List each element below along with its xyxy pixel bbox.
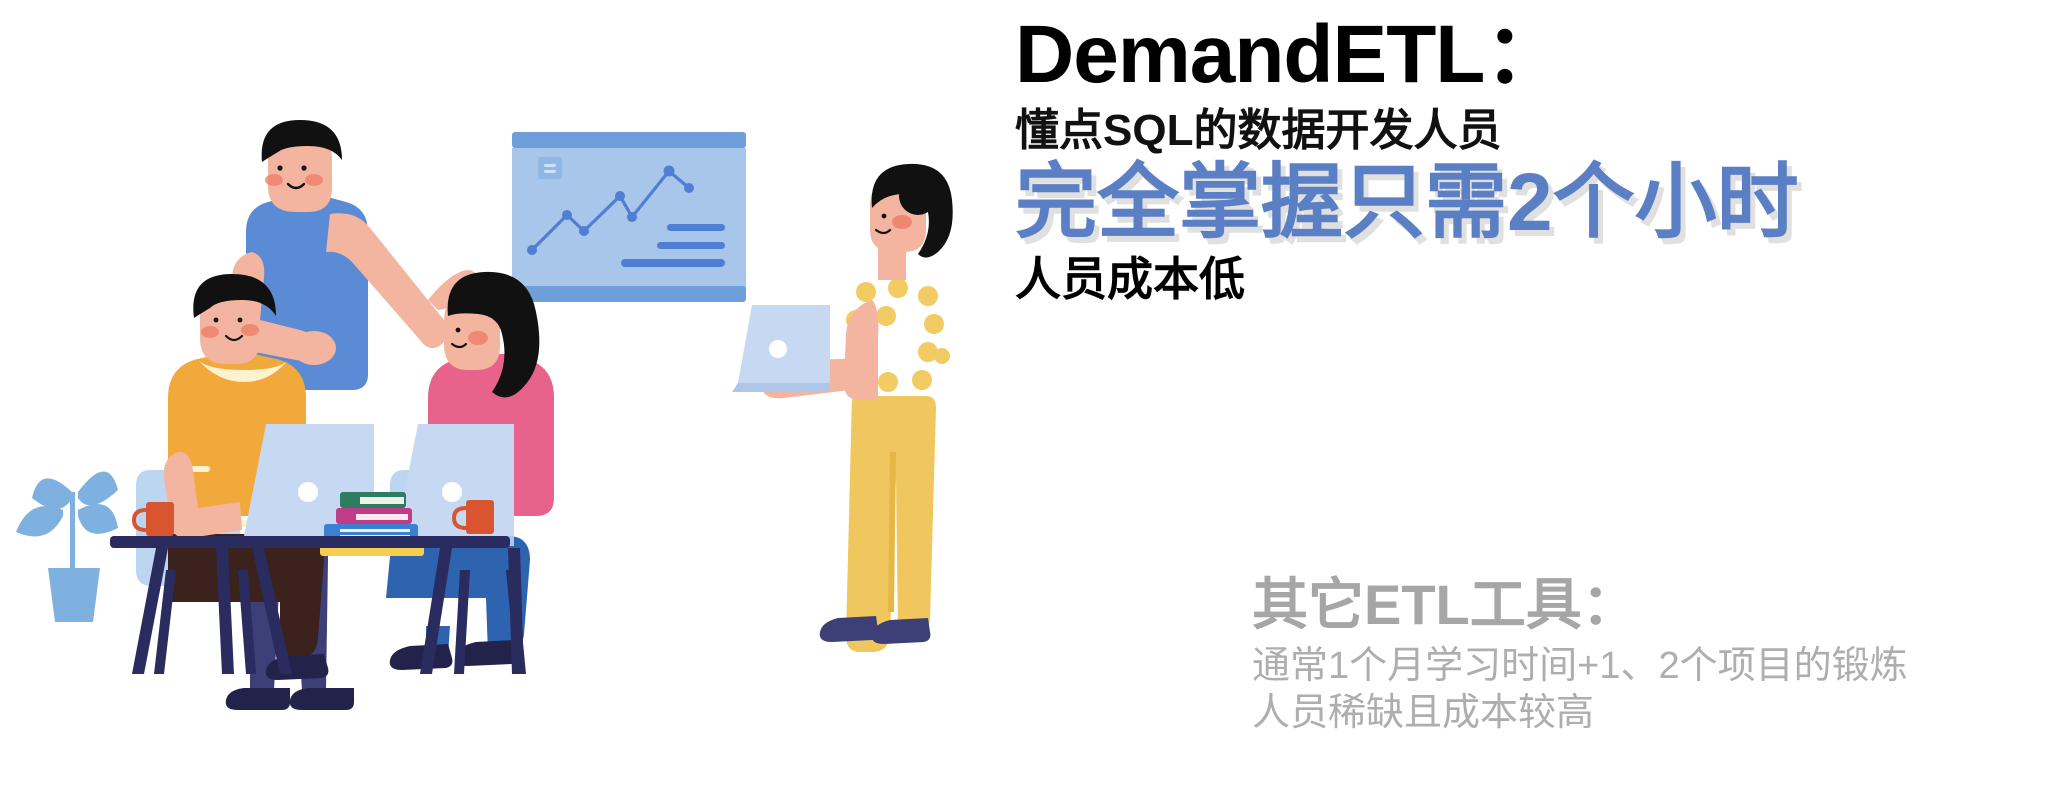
board-doc-icon (538, 157, 562, 179)
woman-blush (468, 331, 488, 345)
promo-banner: DemandETL： 懂点SQL的数据开发人员 完全掌握只需2个小时 人员成本低… (0, 0, 2066, 794)
product-title: DemandETL： (1015, 14, 2035, 96)
boy-blush-right (241, 324, 259, 336)
woman-shoe-left (390, 644, 453, 670)
plant-pot (48, 568, 100, 622)
table-top (110, 536, 510, 548)
highlight-headline: 完全掌握只需2个小时 (1015, 159, 2035, 248)
boy-blush-left (201, 326, 219, 338)
product-subtitle: 懂点SQL的数据开发人员 (1015, 106, 2035, 155)
boy-eye-right (238, 318, 243, 323)
board-bottom-bar (512, 286, 746, 302)
person-standing-woman (732, 164, 954, 652)
laptop-left-logo (298, 482, 318, 502)
team-working-illustration (0, 0, 1000, 794)
man-eye-right (301, 165, 306, 170)
laptop-right-logo (442, 482, 462, 502)
standing-woman-laptop-logo (769, 340, 787, 358)
standing-woman-shoe-left (820, 616, 879, 642)
potted-plant (16, 471, 118, 622)
boy-eye-left (214, 318, 219, 323)
comparison-line-1: 通常1个月学习时间+1、2个项目的锻炼 (1252, 643, 2042, 690)
man-shoe-left (226, 688, 290, 710)
comparison-line-2: 人员稀缺且成本较高 (1252, 690, 2042, 737)
man-fist (292, 331, 336, 365)
woman-eye (456, 328, 461, 333)
man-blush-right (305, 174, 323, 186)
man-blush-left (265, 174, 283, 186)
board-top-bar (512, 132, 746, 148)
comparison-title: 其它ETL工具： (1252, 576, 2042, 635)
man-shoe-right (290, 688, 354, 710)
man-eye-left (277, 165, 282, 170)
standing-woman-blush (892, 215, 912, 229)
comparison-text-block: 其它ETL工具： 通常1个月学习时间+1、2个项目的锻炼 人员稀缺且成本较高 (1252, 576, 2042, 737)
standing-woman-eye (882, 214, 887, 219)
promo-text-block: DemandETL： 懂点SQL的数据开发人员 完全掌握只需2个小时 人员成本低 (1015, 14, 2035, 305)
benefit-line: 人员成本低 (1015, 254, 2035, 306)
standing-woman-bun (899, 177, 937, 215)
presentation-board (512, 132, 746, 302)
